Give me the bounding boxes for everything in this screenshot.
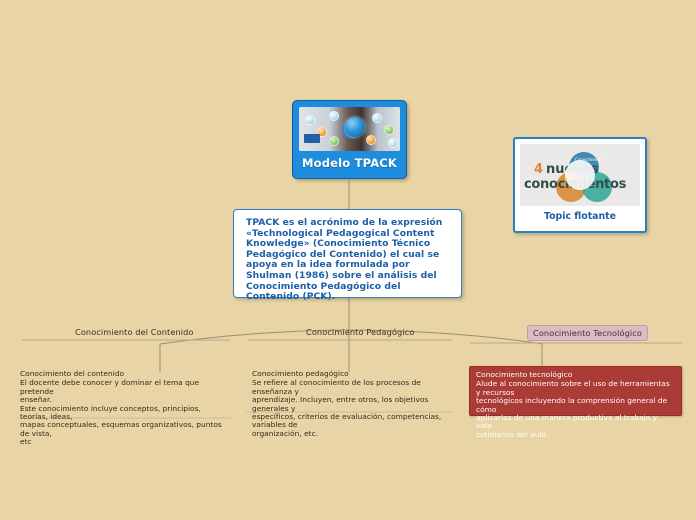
thumb-text-number: 4 [534,162,543,177]
detail-line: Se refiere al conocimiento de los proces… [252,379,448,396]
detail-line: etc [20,438,226,446]
detail-line: Este conocimiento incluye conceptos, pri… [20,405,226,422]
detail-title-tecnologico: Conocimiento tecnológico [476,371,675,379]
tpack-definition-text: TPACK es el acrónimo de la expresión «Te… [246,218,451,303]
central-node-title: Modelo TPACK [299,151,400,175]
floating-topic-caption: Topic flotante [520,206,640,228]
detail-line: específicos, criterios de evaluación, co… [252,413,448,430]
play-triangle [576,168,587,182]
bubble-icon [372,113,382,123]
tpack-definition-note[interactable]: TPACK es el acrónimo de la expresión «Te… [233,209,462,298]
bubble-icon [305,115,315,125]
bubble-icon [388,138,398,148]
detail-line: cotidianos del aula. [476,431,675,439]
bubble-icon [384,125,394,135]
detail-line: tecnológicos incluyendo la comprensión g… [476,397,675,414]
branch-label-contenido[interactable]: Conocimiento del Contenido [72,326,197,338]
detail-body-tecnologico: Alude al conocimiento sobre el uso de he… [476,380,675,439]
central-node-modelo-tpack[interactable]: Modelo TPACK [292,100,407,179]
video-thumbnail[interactable]: Conocimiento 4 nuevos conocimientos [520,144,640,206]
branch-label-tecnologico[interactable]: Conocimiento Tecnológico [527,325,648,341]
detail-body-contenido: El docente debe conocer y dominar el tem… [20,379,226,446]
detail-line: Alude al conocimiento sobre el uso de he… [476,380,675,397]
floating-topic-node[interactable]: Conocimiento 4 nuevos conocimientos Topi… [513,137,647,233]
detail-box-pedagogico[interactable]: Conocimiento pedagógico Se refiere al co… [246,366,454,443]
detail-line: aplicarlos de una manera productiva al t… [476,414,675,431]
screen-icon [304,134,320,143]
detail-line: organización, etc. [252,430,448,438]
detail-line: El docente debe conocer y dominar el tem… [20,379,226,396]
detail-box-contenido[interactable]: Conocimiento del contenido El docente de… [14,366,232,452]
branch-label-pedagogico[interactable]: Conocimiento Pedagógico [303,326,417,338]
detail-line: aprendizaje. Incluyen, entre otros, los … [252,396,448,413]
tpack-thumbnail-image [299,107,400,151]
bubble-icon [366,135,376,145]
detail-body-pedagogico: Se refiere al conocimiento de los proces… [252,379,448,438]
detail-title-pedagogico: Conocimiento pedagógico [252,370,448,378]
detail-line: mapas conceptuales, esquemas organizativ… [20,421,226,438]
detail-title-contenido: Conocimiento del contenido [20,370,226,378]
detail-box-tecnologico[interactable]: Conocimiento tecnológico Alude al conoci… [469,366,682,416]
mindmap-canvas[interactable]: Modelo TPACK TPACK es el acrónimo de la … [0,0,696,520]
play-icon[interactable] [565,160,595,190]
